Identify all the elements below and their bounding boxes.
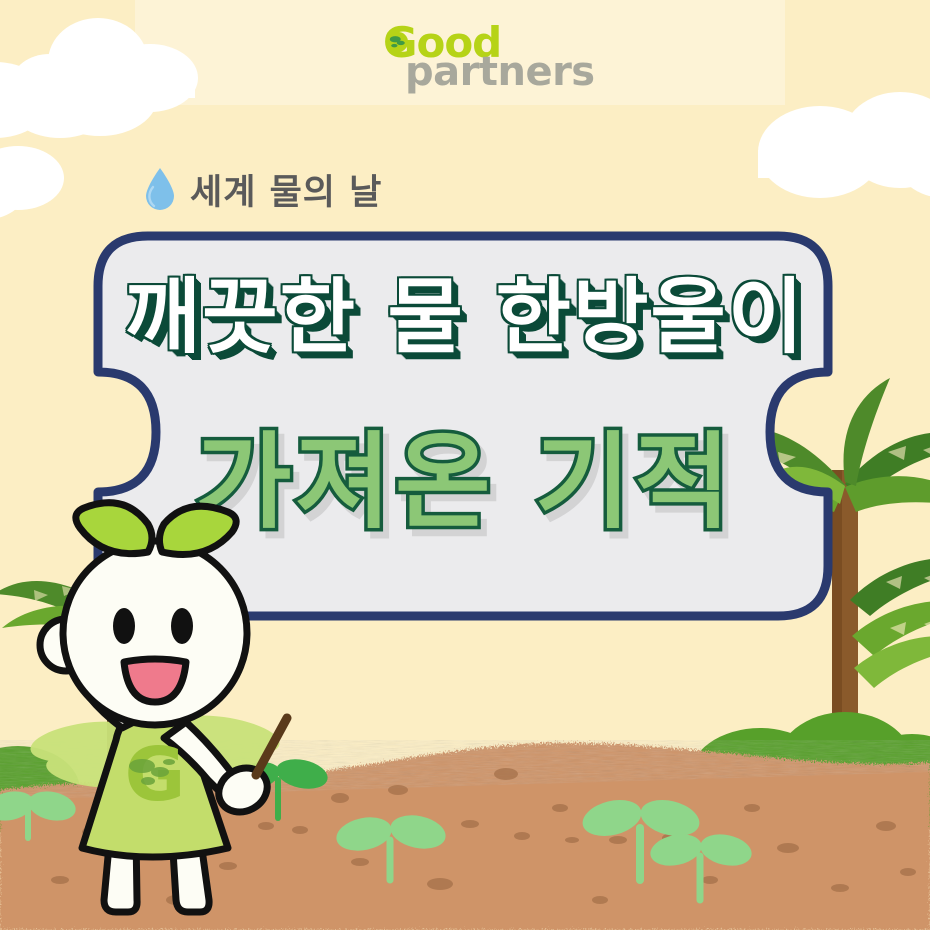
- brand-logo[interactable]: Good partners: [365, 22, 585, 94]
- kicker-row: 세계 물의 날: [144, 163, 382, 215]
- mascot-mouth: [124, 659, 186, 702]
- kicker-label: 세계 물의 날: [190, 164, 382, 215]
- logo-partners-text: partners: [405, 52, 595, 92]
- mascot-eye-left: [113, 608, 135, 644]
- mascot-eye-right: [171, 608, 193, 644]
- water-drop-icon: [144, 167, 176, 211]
- sprout-mascot[interactable]: G: [0, 0, 930, 930]
- mascot-dress-logo: G: [125, 732, 186, 818]
- mascot-leaf-right: [159, 506, 236, 554]
- mascot-leaf-left: [76, 503, 152, 554]
- poster-canvas: 깨끗한 물 한방울이 가져온 기적: [0, 0, 930, 930]
